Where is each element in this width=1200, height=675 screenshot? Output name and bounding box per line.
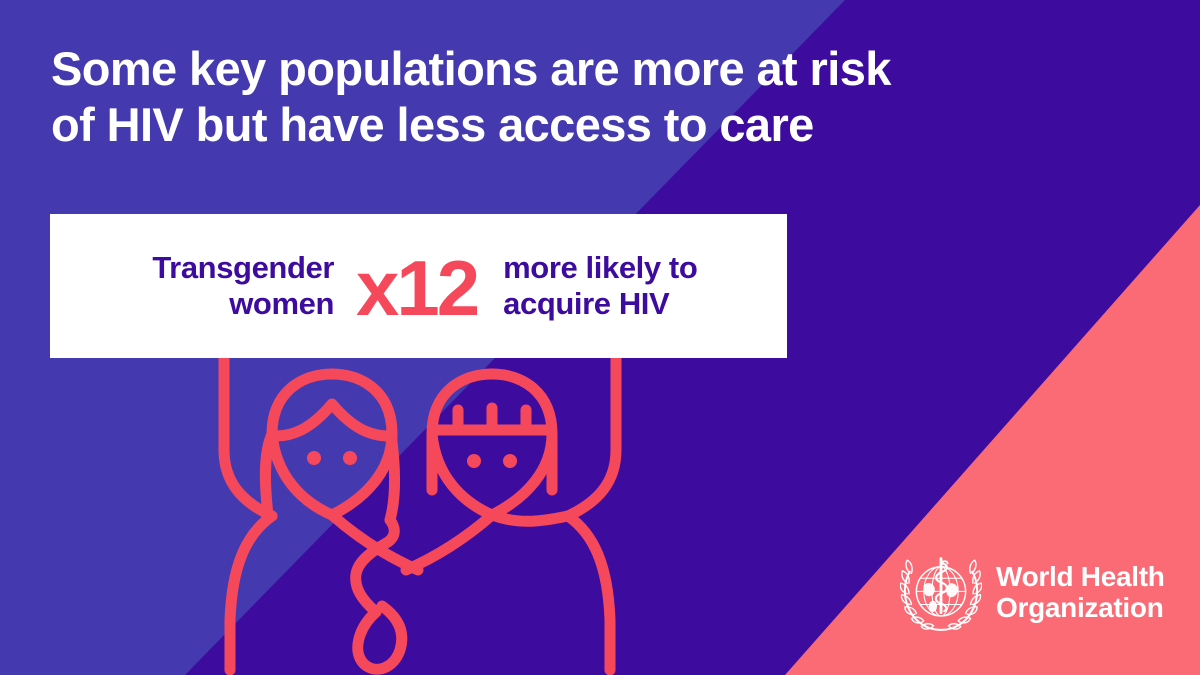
stat-card-content: Transgender women x12 more likely to acq… xyxy=(84,249,757,323)
right-figure-inner-arm xyxy=(406,515,492,570)
globe-continent-east xyxy=(946,583,957,597)
left-figure-hairline-part xyxy=(276,404,389,436)
two-women-illustration xyxy=(180,330,660,675)
globe-continent-west xyxy=(924,583,935,596)
left-figure-eye-right xyxy=(343,451,357,465)
left-figure-left-leg xyxy=(230,516,272,670)
who-emblem-icon xyxy=(900,552,982,634)
linked-arms-loop xyxy=(358,606,402,669)
stat-multiplier-value: x12 xyxy=(334,251,491,325)
page-title: Some key populations are more at risk of… xyxy=(51,41,1121,154)
right-figure-raised-arm xyxy=(568,332,616,516)
infographic-canvas: Some key populations are more at risk of… xyxy=(0,0,1200,675)
stat-card: Transgender women x12 more likely to acq… xyxy=(50,214,787,358)
right-figure-right-leg xyxy=(568,516,610,670)
stat-description: more likely to acquire HIV xyxy=(491,250,697,322)
globe-continent-south xyxy=(929,601,937,612)
right-figure-eye-right xyxy=(503,454,517,468)
left-figure-eye-left xyxy=(307,451,321,465)
right-figure-head xyxy=(432,374,552,515)
right-figure-eye-left xyxy=(467,454,481,468)
right-figure-shoulder xyxy=(492,515,568,521)
who-wordmark-text: World Health Organization xyxy=(996,562,1165,624)
left-figure-head xyxy=(272,374,392,515)
left-figure-hair-right xyxy=(390,434,395,520)
left-figure-inner-arm xyxy=(332,515,418,570)
stat-population-label: Transgender women xyxy=(84,250,334,322)
who-logo: World Health Organization xyxy=(900,551,1172,635)
